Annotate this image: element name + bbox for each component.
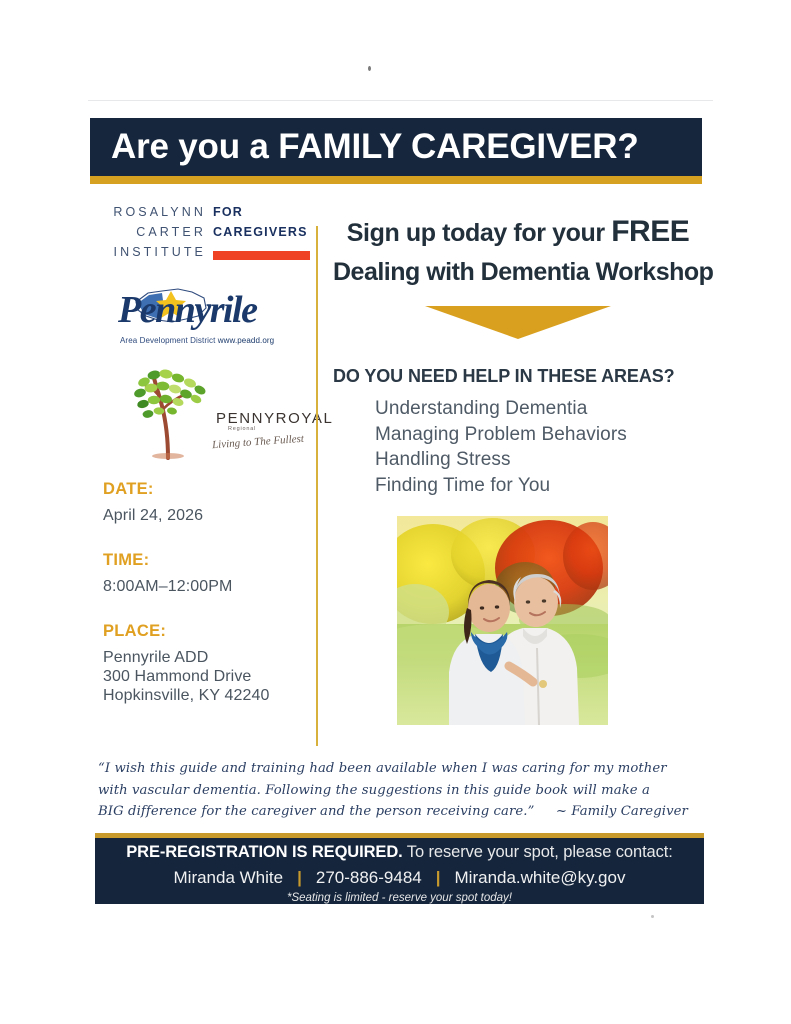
contact-email[interactable]: Miranda.white@ky.gov: [455, 868, 626, 887]
place-value: Pennyrile ADD 300 Hammond Drive Hopkinsv…: [103, 648, 310, 705]
free-emphasis: FREE: [611, 215, 689, 248]
place-line-city: Hopkinsville, KY 42240: [103, 686, 310, 705]
quote-line-2: with vascular dementia. Following the su…: [98, 780, 706, 802]
workshop-title: Dealing with Dementia Workshop: [333, 258, 703, 287]
page-title: Are you a FAMILY CAREGIVER?: [90, 127, 639, 167]
pennyrile-tagline-text: Area Development District: [120, 336, 215, 345]
pennyrile-tagline: Area Development District www.peadd.org: [120, 336, 274, 345]
pennyrile-logo: Pennyrile Area Development District www.…: [118, 284, 318, 358]
list-item: Handling Stress: [333, 447, 703, 473]
rci-word-caregivers: CAREGIVERS: [206, 225, 308, 239]
list-item: Finding Time for You: [333, 473, 703, 499]
contact-line: Miranda White|270-886-9484|Miranda.white…: [95, 868, 704, 888]
header-gold-stripe: [90, 176, 702, 184]
contact-phone[interactable]: 270-886-9484: [316, 868, 422, 887]
pennyrile-url: www.peadd.org: [218, 336, 274, 345]
right-column: Sign up today for your FREE Dealing with…: [333, 214, 703, 498]
list-item: Understanding Dementia: [333, 396, 703, 422]
footer-contact-bar: PRE-REGISTRATION IS REQUIRED. To reserve…: [95, 838, 704, 904]
time-value: 8:00AM–12:00PM: [103, 577, 310, 596]
event-details: DATE: April 24, 2026 TIME: 8:00AM–12:00P…: [103, 480, 310, 705]
flyer-page: Are you a FAMILY CAREGIVER? ROSALYNN FOR…: [0, 0, 791, 1024]
testimonial-quote: “I wish this guide and training had been…: [98, 758, 706, 823]
separator-pipe: |: [422, 868, 455, 887]
scan-speck: [368, 66, 371, 71]
pre-registration-line: PRE-REGISTRATION IS REQUIRED. To reserve…: [95, 838, 704, 862]
quote-attribution: ~ Family Caregiver: [556, 804, 688, 819]
date-value: April 24, 2026: [103, 506, 310, 525]
caregiver-photo: [397, 516, 608, 725]
date-label: DATE:: [103, 480, 310, 499]
time-label: TIME:: [103, 551, 310, 570]
pre-registration-label: PRE-REGISTRATION IS REQUIRED.: [126, 843, 402, 861]
rci-word-carter: CARTER: [96, 225, 206, 239]
areas-list: Understanding Dementia Managing Problem …: [333, 396, 703, 498]
rci-red-bar-icon: [213, 251, 310, 260]
pennyroyal-subtext: Regional: [228, 426, 256, 432]
areas-heading: DO YOU NEED HELP IN THESE AREAS?: [333, 366, 703, 387]
vertical-gold-divider: [316, 226, 318, 746]
place-line-street: 300 Hammond Drive: [103, 667, 310, 686]
rci-line-1: ROSALYNN FOR: [96, 205, 311, 225]
rosalynn-carter-institute-logo: ROSALYNN FOR CARTER CAREGIVERS INSTITUTE: [96, 205, 311, 271]
rci-line-2: CARTER CAREGIVERS: [96, 225, 311, 245]
list-item: Managing Problem Behaviors: [333, 422, 703, 448]
seating-note: *Seating is limited - reserve your spot …: [95, 892, 704, 904]
signup-lead-text: Sign up today for your: [347, 219, 611, 247]
contact-name[interactable]: Miranda White: [174, 868, 284, 887]
reserve-instruction: To reserve your spot, please contact:: [403, 843, 673, 861]
pennyrile-wordmark: Pennyrile: [118, 288, 318, 332]
quote-line-3-text: BIG difference for the caregiver and the…: [98, 804, 534, 819]
signup-headline: Sign up today for your FREE: [333, 214, 703, 251]
left-column: ROSALYNN FOR CARTER CAREGIVERS INSTITUTE…: [90, 205, 310, 705]
separator-pipe: |: [283, 868, 316, 887]
quote-line-1: “I wish this guide and training had been…: [98, 758, 706, 780]
scan-edge-line: [88, 100, 713, 101]
place-label: PLACE:: [103, 622, 310, 641]
place-line-venue: Pennyrile ADD: [103, 648, 310, 667]
rci-word-rosalynn: ROSALYNN: [96, 205, 206, 219]
down-triangle-icon: [425, 306, 611, 339]
rci-word-institute: INSTITUTE: [96, 245, 206, 259]
quote-line-3: BIG difference for the caregiver and the…: [98, 801, 706, 823]
rci-word-for: FOR: [206, 205, 243, 219]
scan-speck: [651, 915, 654, 918]
photo-illustration: [397, 516, 608, 725]
pennyroyal-logo: PENNYROYAL Regional Living to The Fulles…: [128, 366, 328, 462]
header-banner: Are you a FAMILY CAREGIVER?: [90, 118, 702, 176]
